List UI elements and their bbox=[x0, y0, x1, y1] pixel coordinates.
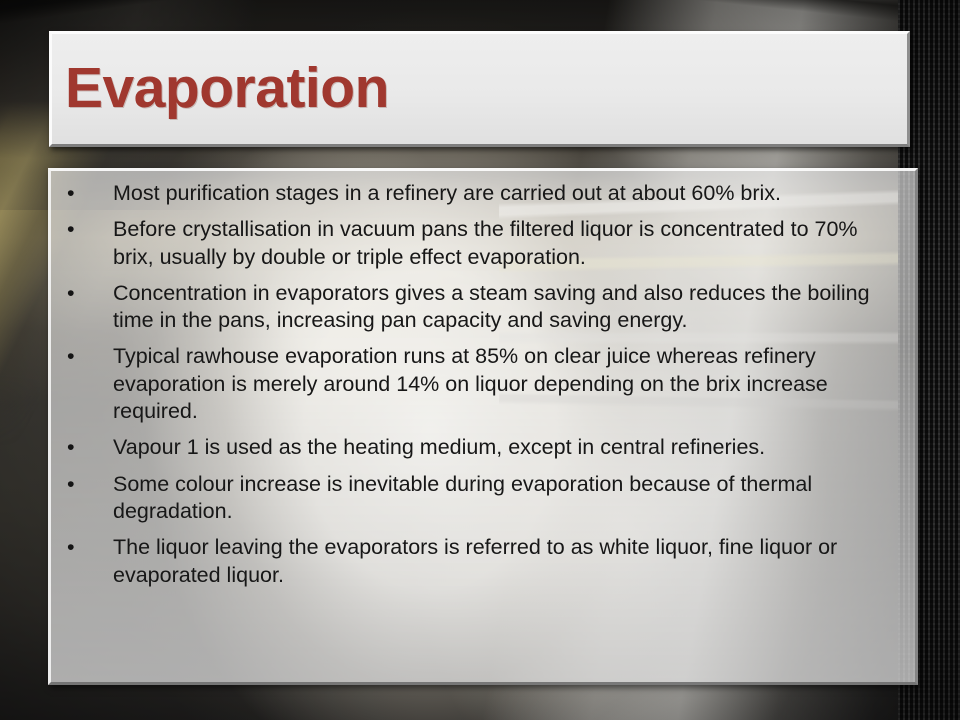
bullet-point-icon: • bbox=[67, 180, 75, 207]
content-placeholder: • Most purification stages in a refinery… bbox=[48, 168, 918, 685]
list-item: • The liquor leaving the evaporators is … bbox=[66, 534, 901, 589]
list-item-text: Before crystallisation in vacuum pans th… bbox=[113, 216, 901, 271]
list-item: • Before crystallisation in vacuum pans … bbox=[66, 216, 901, 271]
list-item-text: Typical rawhouse evaporation runs at 85%… bbox=[113, 343, 901, 425]
list-item: • Vapour 1 is used as the heating medium… bbox=[66, 434, 901, 461]
bullet-point-icon: • bbox=[67, 343, 75, 370]
presentation-slide: Evaporation • Most purification stages i… bbox=[0, 0, 960, 720]
list-item-text: The liquor leaving the evaporators is re… bbox=[113, 534, 901, 589]
page-title: Evaporation bbox=[52, 59, 389, 119]
bullet-point-icon: • bbox=[67, 216, 75, 243]
bullet-point-icon: • bbox=[67, 471, 75, 498]
bullet-point-icon: • bbox=[67, 434, 75, 461]
list-item-text: Some colour increase is inevitable durin… bbox=[113, 471, 901, 526]
bullet-list: • Most purification stages in a refinery… bbox=[51, 171, 915, 589]
title-placeholder: Evaporation bbox=[49, 31, 910, 147]
list-item: • Most purification stages in a refinery… bbox=[66, 180, 901, 207]
list-item: • Typical rawhouse evaporation runs at 8… bbox=[66, 343, 901, 425]
list-item-text: Most purification stages in a refinery a… bbox=[113, 180, 901, 207]
list-item-text: Vapour 1 is used as the heating medium, … bbox=[113, 434, 901, 461]
list-item-text: Concentration in evaporators gives a ste… bbox=[113, 280, 901, 335]
list-item: • Concentration in evaporators gives a s… bbox=[66, 280, 901, 335]
list-item: • Some colour increase is inevitable dur… bbox=[66, 471, 901, 526]
bullet-point-icon: • bbox=[67, 534, 75, 561]
bullet-point-icon: • bbox=[67, 280, 75, 307]
